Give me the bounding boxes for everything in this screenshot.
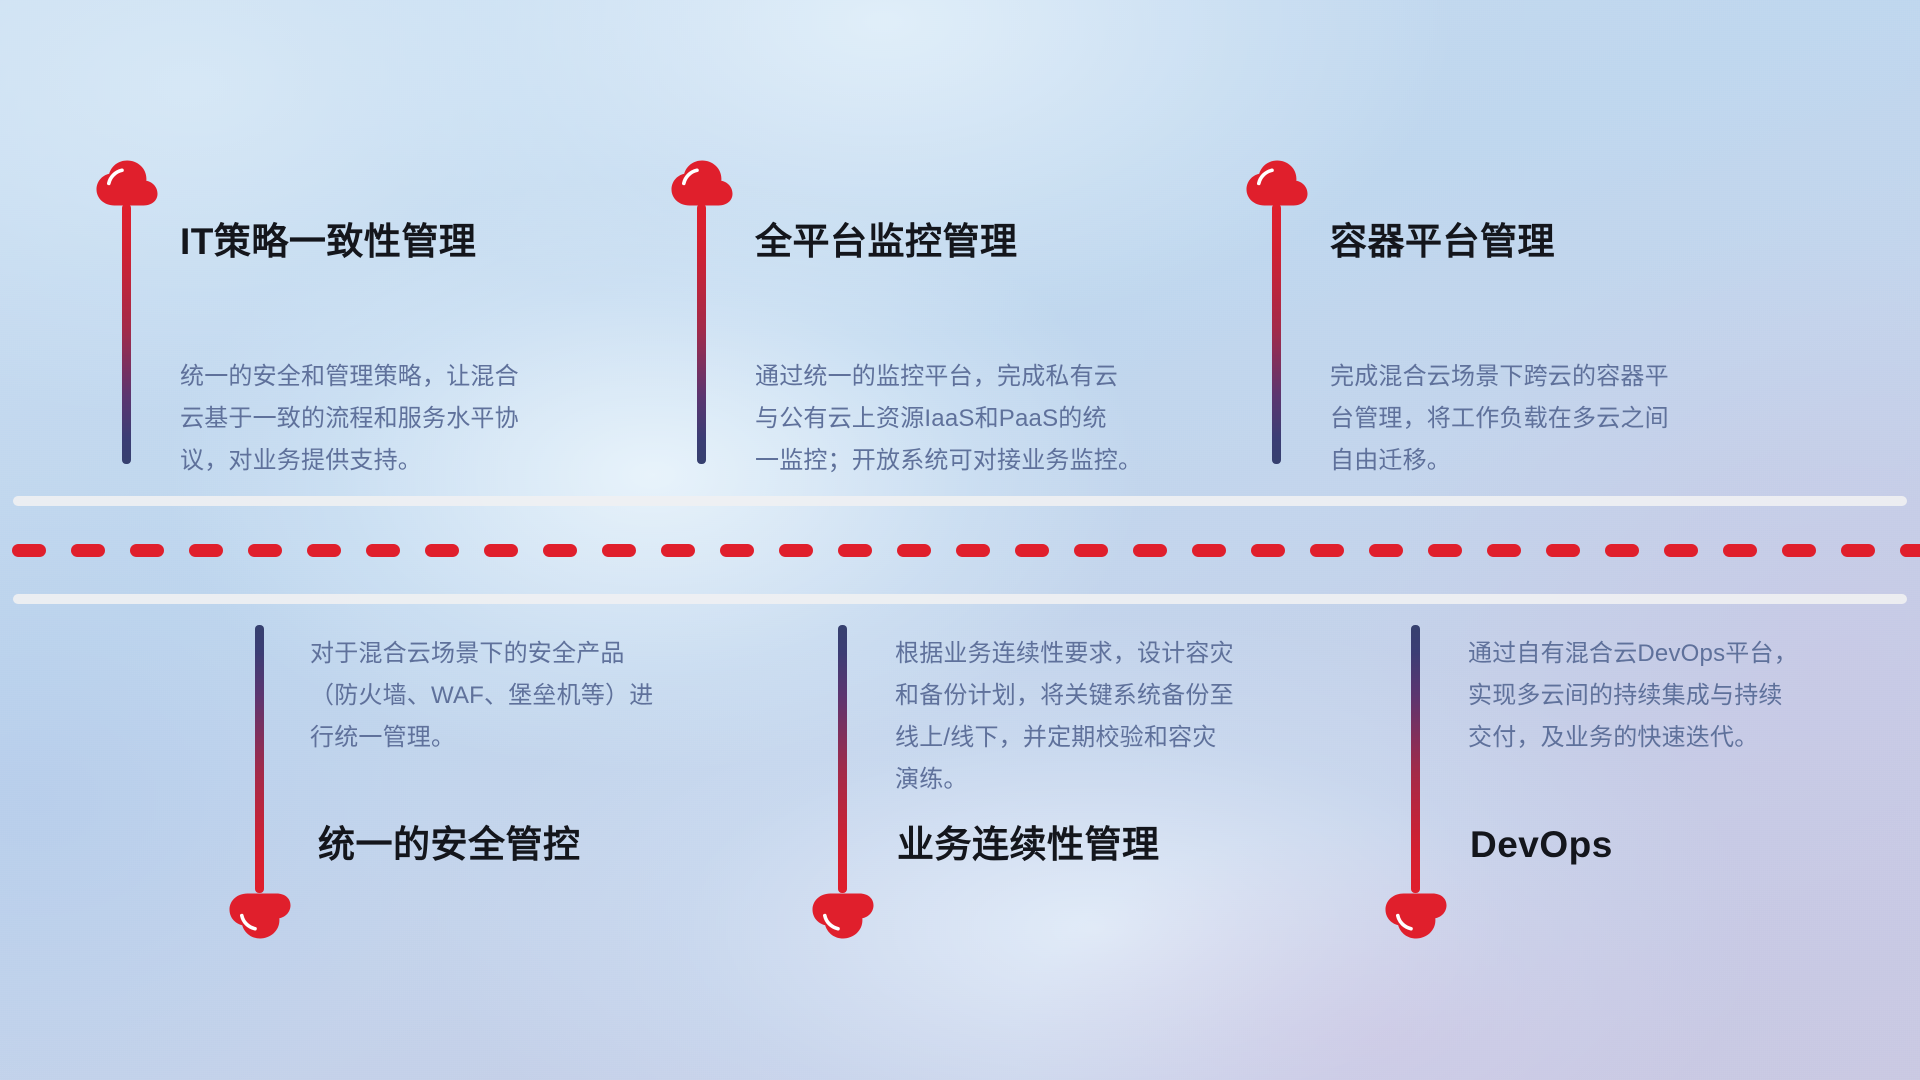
cloud-icon: [671, 160, 733, 206]
divider-dash: [484, 544, 518, 557]
divider-dash: [956, 544, 990, 557]
body-line: 交付，及业务的快速迭代。: [1468, 717, 1908, 759]
card-body: 通过自有混合云DevOps平台， 实现多云间的持续集成与持续 交付，及业务的快速…: [1468, 633, 1908, 759]
divider-dash: [1664, 544, 1698, 557]
divider-dash: [779, 544, 813, 557]
body-line: 通过自有混合云DevOps平台，: [1468, 633, 1908, 675]
body-line: 和备份计划，将关键系统备份至: [895, 675, 1345, 717]
divider-dash: [720, 544, 754, 557]
card-title: IT策略一致性管理: [180, 223, 476, 260]
stem-connector: [255, 625, 264, 893]
body-line: 根据业务连续性要求，设计容灾: [895, 633, 1345, 675]
divider-dash: [1487, 544, 1521, 557]
card-body: 完成混合云场景下跨云的容器平 台管理，将工作负载在多云之间 自由迁移。: [1330, 356, 1780, 482]
divider-dash: [543, 544, 577, 557]
divider-dash: [1841, 544, 1875, 557]
divider-dash: [1015, 544, 1049, 557]
body-line: 与公有云上资源IaaS和PaaS的统: [755, 398, 1205, 440]
body-line: （防火墙、WAF、堡垒机等）进: [310, 675, 740, 717]
divider-dash: [366, 544, 400, 557]
body-line: 一监控；开放系统可对接业务监控。: [755, 440, 1205, 482]
divider-dash: [1192, 544, 1226, 557]
card-title: DevOps: [1470, 826, 1613, 863]
card-body: 通过统一的监控平台，完成私有云 与公有云上资源IaaS和PaaS的统 一监控；开…: [755, 356, 1205, 482]
divider-dash: [661, 544, 695, 557]
body-line: 完成混合云场景下跨云的容器平: [1330, 356, 1780, 398]
divider-dash: [1428, 544, 1462, 557]
divider-dash: [1133, 544, 1167, 557]
card-body: 根据业务连续性要求，设计容灾 和备份计划，将关键系统备份至 线上/线下，并定期校…: [895, 633, 1345, 801]
body-line: 自由迁移。: [1330, 440, 1780, 482]
divider-dash: [248, 544, 282, 557]
stem-connector: [697, 204, 706, 464]
divider-dash: [1605, 544, 1639, 557]
body-line: 行统一管理。: [310, 717, 740, 759]
stem-connector: [1272, 204, 1281, 464]
divider-dash: [130, 544, 164, 557]
stem-connector: [838, 625, 847, 893]
cloud-icon: [1246, 160, 1308, 206]
divider-rail-top: [13, 496, 1907, 506]
divider-dash: [1782, 544, 1816, 557]
body-line: 通过统一的监控平台，完成私有云: [755, 356, 1205, 398]
card-title: 业务连续性管理: [897, 826, 1160, 863]
divider-dash: [1251, 544, 1285, 557]
card-body: 统一的安全和管理策略，让混合 云基于一致的流程和服务水平协 议，对业务提供支持。: [180, 356, 610, 482]
divider-dash: [1369, 544, 1403, 557]
divider-dash: [307, 544, 341, 557]
divider-dash: [1546, 544, 1580, 557]
body-line: 议，对业务提供支持。: [180, 440, 610, 482]
divider-dash: [1310, 544, 1344, 557]
stem-connector: [1411, 625, 1420, 893]
cloud-icon: [812, 893, 874, 939]
cloud-icon: [229, 893, 291, 939]
divider-dash: [602, 544, 636, 557]
body-line: 实现多云间的持续集成与持续: [1468, 675, 1908, 717]
divider-dash: [897, 544, 931, 557]
divider-dash: [189, 544, 223, 557]
divider-rail-bottom: [13, 594, 1907, 604]
body-line: 台管理，将工作负载在多云之间: [1330, 398, 1780, 440]
card-title: 全平台监控管理: [755, 223, 1018, 260]
cloud-icon: [1385, 893, 1447, 939]
body-line: 统一的安全和管理策略，让混合: [180, 356, 610, 398]
divider-dash: [838, 544, 872, 557]
card-body: 对于混合云场景下的安全产品 （防火墙、WAF、堡垒机等）进 行统一管理。: [310, 633, 740, 759]
card-title: 统一的安全管控: [318, 826, 581, 863]
divider-dash: [71, 544, 105, 557]
divider-dash: [425, 544, 459, 557]
divider-dash: [12, 544, 46, 557]
divider-dash: [1900, 544, 1920, 557]
card-title: 容器平台管理: [1330, 223, 1555, 260]
stem-connector: [122, 204, 131, 464]
divider-dash: [1074, 544, 1108, 557]
cloud-icon: [96, 160, 158, 206]
body-line: 云基于一致的流程和服务水平协: [180, 398, 610, 440]
body-line: 演练。: [895, 759, 1345, 801]
body-line: 线上/线下，并定期校验和容灾: [895, 717, 1345, 759]
body-line: 对于混合云场景下的安全产品: [310, 633, 740, 675]
divider-dash: [1723, 544, 1757, 557]
